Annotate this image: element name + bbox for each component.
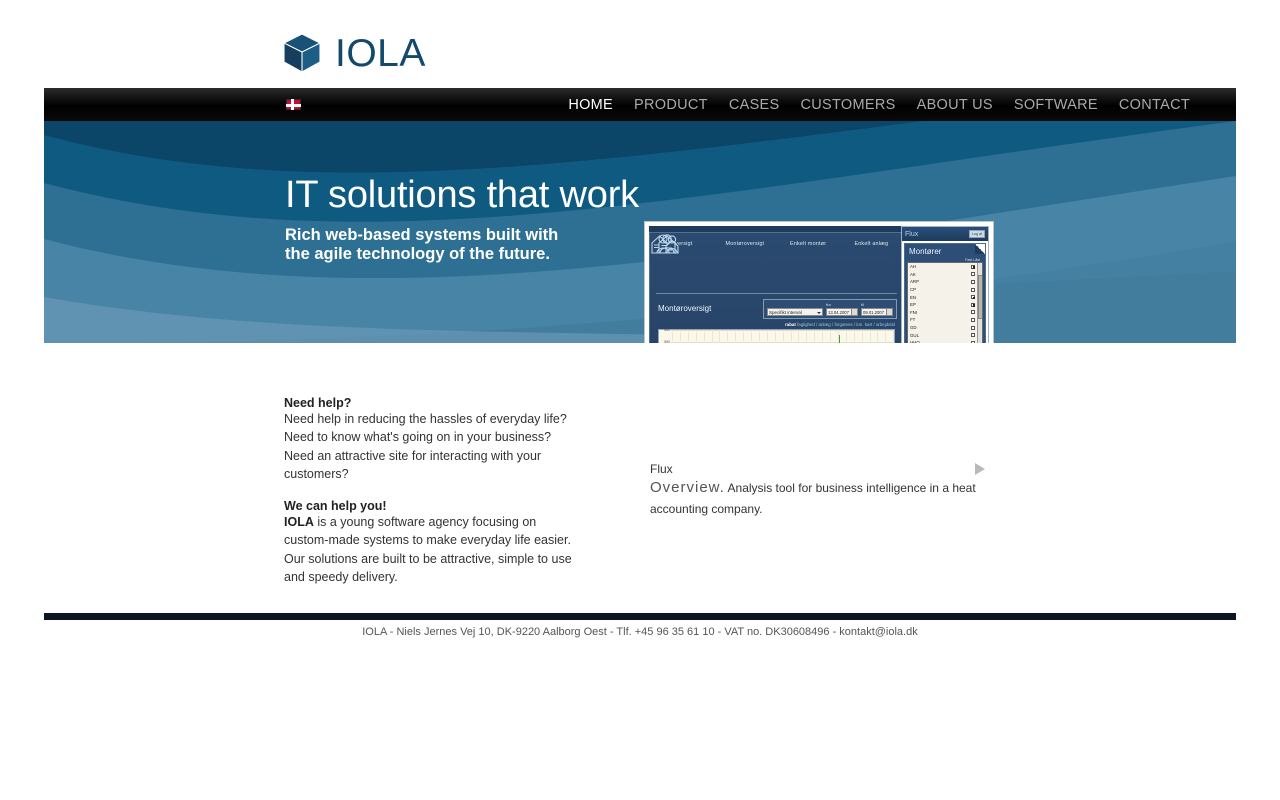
- list-item[interactable]: ARP: [908, 278, 982, 286]
- list-item[interactable]: FT: [908, 316, 982, 324]
- list-item[interactable]: HHO: [908, 339, 982, 343]
- list-item-label: HHO: [910, 340, 969, 343]
- fast-checkbox[interactable]: [971, 333, 975, 337]
- hero-text: IT solutions that work Rich web-based sy…: [285, 176, 639, 265]
- intro-copy: Need help? Need help in reducing the has…: [284, 396, 576, 586]
- hero-wave-decoration: [44, 121, 1236, 343]
- app-title-bar: Flux Log af: [902, 227, 988, 241]
- fast-checkbox[interactable]: [971, 303, 975, 307]
- chart-bars: [672, 332, 892, 344]
- sublink[interactable]: anlæg: [819, 322, 831, 327]
- list-item-label: CP: [910, 287, 969, 292]
- fast-checkbox[interactable]: [971, 265, 975, 269]
- list-item-label: FT: [910, 317, 969, 322]
- app-nav-montoroversigt[interactable]: Montøroversigt: [713, 241, 776, 291]
- nav-item-about-us[interactable]: ABOUT US: [917, 97, 993, 113]
- calendar-icon[interactable]: [852, 308, 858, 316]
- footer: IOLA - Niels Jernes Vej 10, DK-9220 Aalb…: [44, 626, 1236, 638]
- log-off-button[interactable]: Log af: [969, 230, 985, 238]
- list-item[interactable]: EN: [908, 293, 982, 301]
- montorer-panel: Montører Fast Låst AHAKARPCPENEPFNIFTGDG…: [904, 243, 986, 343]
- list-item-label: EN: [910, 295, 969, 300]
- sublink-active[interactable]: rabat: [785, 322, 796, 327]
- logo[interactable]: IOLA: [283, 33, 426, 73]
- app-main-area: Oversigt Montørovers: [649, 232, 904, 343]
- next-arrow-icon[interactable]: [975, 463, 985, 475]
- fast-checkbox[interactable]: [971, 341, 975, 343]
- footer-text: IOLA - Niels Jernes Vej 10, DK-9220 Aalb…: [362, 626, 839, 638]
- list-item[interactable]: AK: [908, 271, 982, 279]
- nav-item-home[interactable]: HOME: [568, 97, 613, 113]
- product-screenshot[interactable]: Oversigt Montørovers: [645, 222, 993, 343]
- site-header: IOLA: [0, 0, 1280, 88]
- fast-checkbox[interactable]: [971, 326, 975, 330]
- copy-paragraph-1: Need help in reducing the hassles of eve…: [284, 410, 576, 483]
- app-side-panel: Flux Log af Montører Fast Låst AHAKARPCP…: [901, 226, 989, 343]
- listbox-scrollbar[interactable]: [977, 263, 982, 343]
- denmark-flag-icon[interactable]: [286, 99, 301, 110]
- app-section-header: Montøroversigt Specifikt interval fra 13…: [650, 294, 903, 321]
- footer-email-link[interactable]: kontakt@iola.dk: [839, 626, 917, 638]
- sublink[interactable]: km. kørt: [856, 322, 872, 327]
- sublink[interactable]: forgæves: [834, 322, 852, 327]
- nav-item-cases[interactable]: CASES: [729, 97, 780, 113]
- copy-brand-mention: IOLA: [284, 515, 314, 529]
- caption-kicker: Flux: [650, 462, 985, 476]
- fast-checkbox[interactable]: [971, 310, 975, 314]
- page-root: IOLA HOME PRODUCT CASES CUSTOMERS ABOUT …: [0, 0, 1280, 800]
- y-tick-label: 600: [664, 328, 670, 332]
- date-from-field[interactable]: 13.04.2007: [826, 308, 858, 316]
- list-item-label: FNI: [910, 310, 969, 315]
- list-item-label: AH: [910, 264, 969, 269]
- brand-name: IOLA: [335, 34, 426, 73]
- nav-item-product[interactable]: PRODUCT: [634, 97, 708, 113]
- y-tick-label: 500: [664, 340, 670, 343]
- hero-headline: IT solutions that work: [285, 176, 639, 216]
- list-item-label: GD: [910, 325, 969, 330]
- fast-checkbox[interactable]: [971, 288, 975, 292]
- copy-paragraph-2-text: is a young software agency focusing on c…: [284, 515, 572, 584]
- list-item[interactable]: CP: [908, 286, 982, 294]
- app-nav-enkelt-anlaeg[interactable]: Enkelt anlæg: [840, 241, 903, 291]
- hero-subheadline: Rich web-based systems built with the ag…: [285, 226, 639, 265]
- date-from-value[interactable]: 13.04.2007: [826, 308, 852, 316]
- sublink[interactable]: arbejdstid: [876, 322, 895, 327]
- hero-sub-line-1: Rich web-based systems built with: [285, 226, 639, 245]
- sublink[interactable]: faglighed: [797, 322, 815, 327]
- list-item[interactable]: AH: [908, 263, 982, 271]
- nav-links: HOME PRODUCT CASES CUSTOMERS ABOUT US SO…: [568, 97, 1190, 113]
- fast-checkbox[interactable]: [971, 280, 975, 284]
- app-nav-label: Enkelt montør: [777, 241, 840, 247]
- bar-chart: 6005004003002001000 23/47/831/84/1011/10…: [658, 329, 895, 344]
- list-item[interactable]: FNI: [908, 309, 982, 317]
- nav-item-customers[interactable]: CUSTOMERS: [801, 97, 896, 113]
- footer-divider: [44, 613, 1236, 620]
- app-name: Flux: [905, 231, 918, 238]
- hero-banner: IT solutions that work Rich web-based sy…: [44, 121, 1236, 343]
- page-fold-decoration: [975, 244, 985, 254]
- list-item-label: EP: [910, 302, 969, 307]
- showcase-caption: Flux Overview. Analysis tool for busines…: [650, 462, 985, 518]
- list-item-label: AK: [910, 272, 969, 277]
- montorer-listbox[interactable]: AHAKARPCPENEPFNIFTGDGULHHOHJUHRPIZJRJSJV…: [907, 262, 983, 343]
- nav-item-contact[interactable]: CONTACT: [1119, 97, 1190, 113]
- nav-item-software[interactable]: SOFTWARE: [1014, 97, 1098, 113]
- fast-checkbox[interactable]: [971, 272, 975, 276]
- app-nav-label: Enkelt anlæg: [840, 241, 903, 247]
- main-navigation: HOME PRODUCT CASES CUSTOMERS ABOUT US SO…: [44, 88, 1236, 121]
- cube-icon: [283, 33, 321, 73]
- date-to-field[interactable]: 09.01.2007: [861, 308, 893, 316]
- caption-overview-label: Overview.: [650, 479, 725, 496]
- list-item-label: ARP: [910, 279, 969, 284]
- app-section-title: Montøroversigt: [658, 304, 711, 313]
- chart-y-axis: 6005004003002001000: [659, 330, 671, 344]
- app-nav-label: Montøroversigt: [713, 241, 776, 247]
- fast-checkbox[interactable]: [971, 295, 975, 299]
- calendar-icon[interactable]: [887, 308, 893, 316]
- scrollbar-thumb[interactable]: [978, 275, 983, 319]
- list-item[interactable]: EP: [908, 301, 982, 309]
- date-to-label: til: [861, 302, 893, 307]
- interval-select[interactable]: Specifikt interval: [767, 308, 823, 316]
- caption-body: Overview. Analysis tool for business int…: [650, 477, 985, 518]
- one-house-icon: [650, 233, 684, 255]
- montorer-panel-title: Montører: [907, 246, 983, 258]
- app-icon-nav: Oversigt Montørovers: [650, 233, 903, 291]
- hero-sub-line-2: the agile technology of the future.: [285, 245, 639, 264]
- copy-heading-2: We can help you!: [284, 499, 576, 513]
- copy-paragraph-2: IOLA is a young software agency focusing…: [284, 513, 576, 586]
- list-item-label: GUL: [910, 333, 969, 338]
- date-from-label: fra: [826, 302, 858, 307]
- list-item[interactable]: GUL: [908, 331, 982, 339]
- app-filter-controls: Specifikt interval fra 13.04.2007 til: [763, 299, 897, 319]
- date-to-value[interactable]: 09.01.2007: [861, 308, 887, 316]
- app-nav-enkelt-montor[interactable]: Enkelt montør: [777, 241, 840, 291]
- list-item[interactable]: GD: [908, 324, 982, 332]
- app-sublinks: rabat faglighed / anlæg / forgæves / km.…: [650, 321, 903, 329]
- copy-heading-1: Need help?: [284, 396, 576, 410]
- fast-checkbox[interactable]: [971, 318, 975, 322]
